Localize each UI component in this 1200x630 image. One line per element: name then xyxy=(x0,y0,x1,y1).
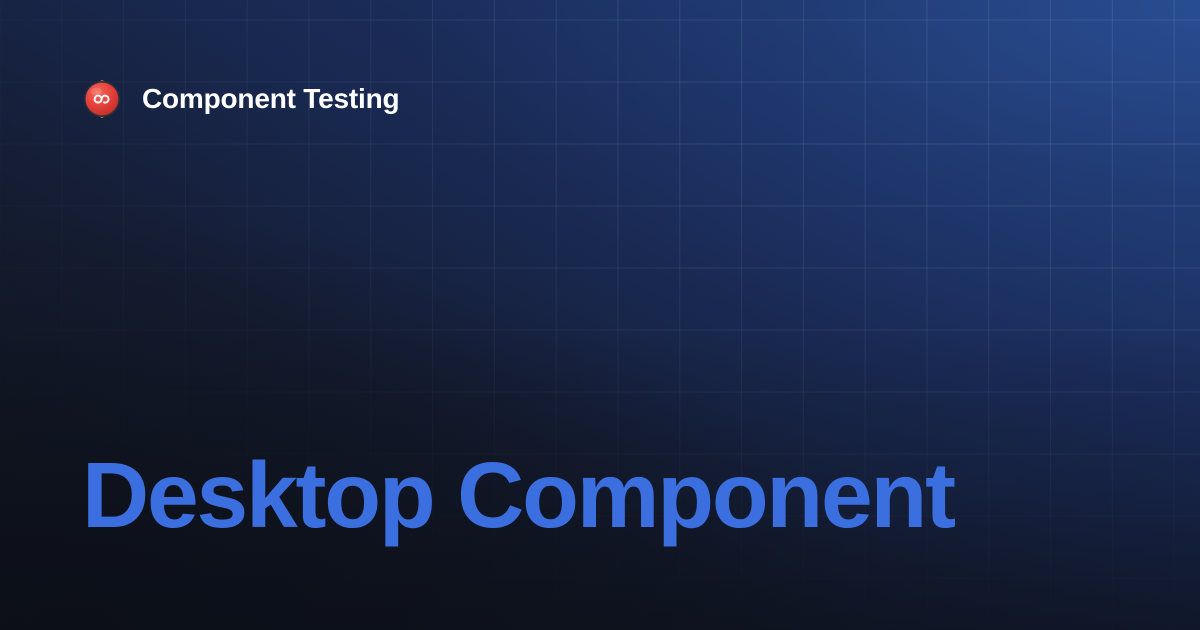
page-title: Desktop Component xyxy=(82,447,1122,545)
open-graph-card: Component Testing Desktop Component xyxy=(0,0,1200,630)
cypress-logo-icon xyxy=(82,79,122,119)
brand-header: Component Testing xyxy=(82,79,399,119)
brand-title: Component Testing xyxy=(142,85,399,113)
